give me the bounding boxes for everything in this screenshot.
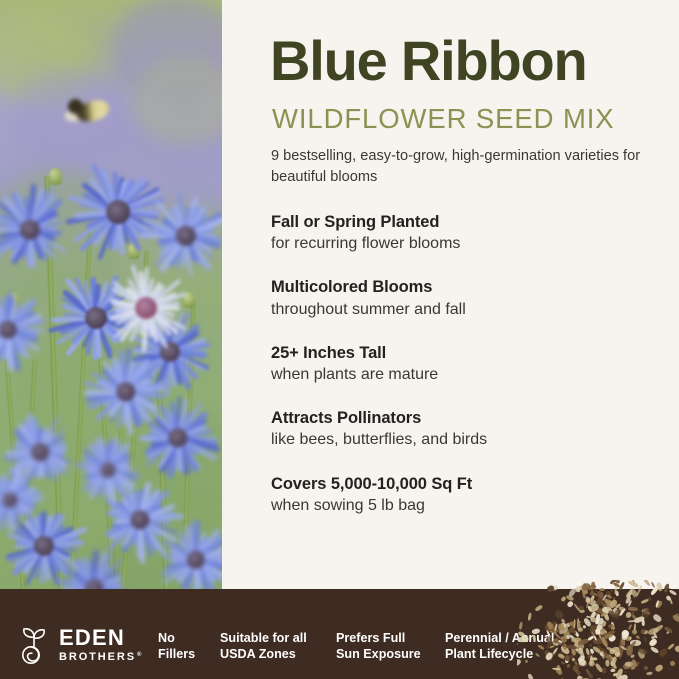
bee-photo-element: [62, 95, 124, 129]
feature-subtitle: like bees, butterflies, and birds: [271, 430, 671, 451]
cornflower-blossom: [0, 466, 44, 534]
feature-subtitle: throughout summer and fall: [271, 300, 671, 321]
pale-cornflower-blossom: [100, 262, 192, 354]
feature-subtitle: when sowing 5 lb bag: [271, 496, 671, 517]
sprout-seedling-icon: [16, 625, 52, 665]
feature-subtitle: when plants are mature: [271, 365, 671, 386]
attribute-line2: Fillers: [158, 646, 220, 663]
attribute-line1: No: [158, 631, 175, 645]
feature-title: Attracts Pollinators: [271, 408, 671, 428]
feature-subtitle: for recurring flower blooms: [271, 234, 671, 255]
brand-name-eden: EDEN: [59, 627, 143, 649]
brand-brothers-text: BROTHERS: [59, 652, 136, 663]
feature-title: Fall or Spring Planted: [271, 212, 671, 232]
feature-item: Covers 5,000-10,000 Sq Ftwhen sowing 5 l…: [271, 474, 671, 517]
attribute-line2: USDA Zones: [220, 646, 336, 663]
attribute-item: NoFillers: [158, 630, 220, 663]
attribute-line2: Sun Exposure: [336, 646, 445, 663]
attribute-list: NoFillersSuitable for allUSDA ZonesPrefe…: [158, 630, 575, 663]
cornflower-blossom: [0, 288, 50, 372]
feature-title: Multicolored Blooms: [271, 277, 671, 297]
brand-wordmark: EDEN BROTHERS ®: [59, 627, 143, 663]
feature-item: Multicolored Bloomsthroughout summer and…: [271, 277, 671, 320]
cornflower-blossom: [134, 394, 222, 482]
product-infographic: Blue Ribbon WILDFLOWER SEED MIX 9 bestse…: [0, 0, 679, 679]
product-description: 9 bestselling, easy-to-grow, high-germin…: [271, 146, 671, 188]
attribute-line1: Prefers Full: [336, 631, 405, 645]
feature-item: Attracts Pollinatorslike bees, butterfli…: [271, 408, 671, 451]
feature-title: 25+ Inches Tall: [271, 343, 671, 363]
feature-title: Covers 5,000-10,000 Sq Ft: [271, 474, 671, 494]
brand-name-brothers: BROTHERS ®: [59, 652, 143, 663]
attribute-line1: Suitable for all: [220, 631, 307, 645]
footer-bar: EDEN BROTHERS ® NoFillersSuitable for al…: [0, 589, 679, 679]
feature-item: Fall or Spring Plantedfor recurring flow…: [271, 212, 671, 255]
page-title: Blue Ribbon: [270, 32, 587, 89]
attribute-item: Prefers FullSun Exposure: [336, 630, 445, 663]
content-panel: Blue Ribbon WILDFLOWER SEED MIX 9 bestse…: [222, 0, 679, 622]
cornflower-blossom: [74, 436, 142, 504]
feature-item: 25+ Inches Tallwhen plants are mature: [271, 343, 671, 386]
feature-list: Fall or Spring Plantedfor recurring flow…: [271, 212, 671, 517]
registered-mark-icon: ®: [137, 652, 143, 658]
seed-pile-photo: [517, 580, 679, 679]
product-subtitle: WILDFLOWER SEED MIX: [272, 104, 615, 134]
brand-logo: EDEN BROTHERS ®: [16, 625, 143, 665]
cornflower-photo: [0, 0, 222, 622]
attribute-item: Suitable for allUSDA Zones: [220, 630, 336, 663]
